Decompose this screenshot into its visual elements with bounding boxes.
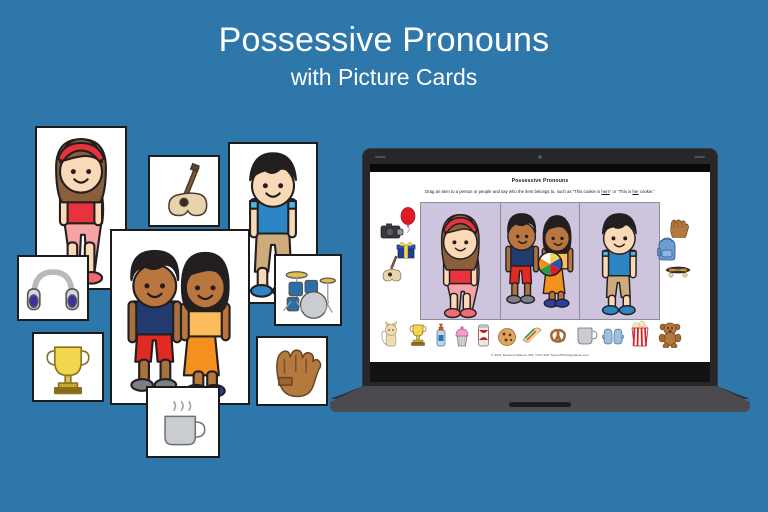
popcorn-icon[interactable] — [629, 319, 651, 347]
character-panel-strip — [420, 202, 660, 320]
cupcake-icon[interactable] — [452, 325, 472, 348]
bezel-vent-left — [375, 156, 386, 158]
card-trophy[interactable] — [32, 332, 104, 402]
pretzel-icon[interactable] — [547, 326, 569, 346]
card-baseball-glove[interactable] — [256, 336, 328, 406]
instructions-underline-hers: hers — [601, 189, 609, 194]
screen-top-band — [370, 164, 710, 172]
page-subtitle: with Picture Cards — [0, 62, 768, 92]
instructions-part-2: ” or “This is — [610, 189, 633, 194]
backpack-icon[interactable] — [656, 236, 678, 262]
poster-canvas: Possessive Pronouns with Picture Cards — [0, 0, 768, 512]
instructions-part-3: cookie.” — [639, 189, 655, 194]
mittens-icon[interactable] — [602, 326, 624, 346]
sandwich-icon[interactable] — [520, 324, 544, 346]
card-two-kids[interactable] — [110, 229, 250, 405]
cookie-icon[interactable] — [497, 327, 517, 347]
panel-he[interactable] — [580, 203, 659, 319]
panel-they[interactable] — [501, 203, 581, 319]
panel-she[interactable] — [421, 203, 501, 319]
laptop-lid: Possessive Pronouns Drag an item to a pe… — [362, 148, 718, 390]
worksheet-title: Possessive Pronouns — [370, 178, 710, 184]
laptop-screen[interactable]: Possessive Pronouns Drag an item to a pe… — [370, 172, 710, 362]
soda-can-icon[interactable] — [476, 322, 491, 348]
skateboard-icon[interactable] — [664, 264, 692, 280]
bezel-vent-right — [694, 156, 705, 158]
mug-icon[interactable] — [574, 323, 598, 347]
laptop-mockup: Possessive Pronouns Drag an item to a pe… — [330, 148, 750, 428]
instructions-part-1: Drag an item to a person or people and s… — [425, 189, 601, 194]
guitar-icon[interactable] — [377, 254, 403, 286]
title-block: Possessive Pronouns with Picture Cards — [0, 20, 768, 92]
worksheet: Possessive Pronouns Drag an item to a pe… — [370, 172, 710, 362]
worksheet-instructions: Drag an item to a person or people and s… — [378, 189, 702, 195]
beach-ball-icon — [538, 252, 562, 276]
trophy-icon[interactable] — [407, 322, 429, 348]
card-headphones[interactable] — [17, 255, 89, 321]
worksheet-footer: © 2021 Rebecca Wanca, MS, CCC-SLP Speech… — [370, 353, 710, 357]
page-title: Possessive Pronouns — [0, 20, 768, 60]
camera-icon[interactable] — [380, 222, 404, 240]
laptop-front-notch — [509, 402, 571, 407]
card-guitar[interactable] — [148, 155, 220, 227]
baseball-glove-icon[interactable] — [666, 216, 690, 238]
laptop-lid-chin — [370, 362, 710, 382]
webcam-icon — [538, 155, 542, 159]
card-mug[interactable] — [146, 386, 220, 458]
glue-icon[interactable] — [434, 322, 448, 348]
cat-icon[interactable] — [379, 321, 402, 349]
laptop-base — [330, 386, 750, 412]
teddy-bear-icon[interactable] — [658, 321, 682, 348]
